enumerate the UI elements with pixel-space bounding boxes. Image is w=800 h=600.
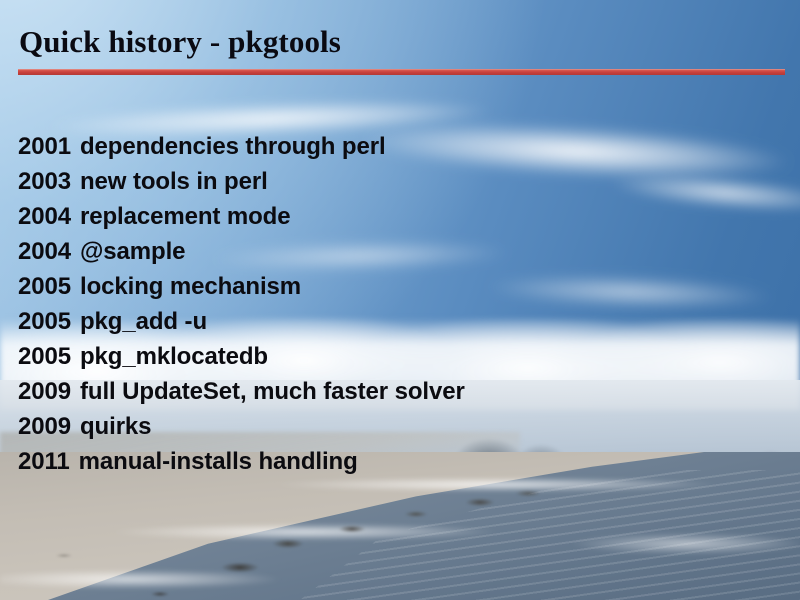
history-item-event: locking mechanism <box>80 273 301 300</box>
history-item-event: pkg_add -u <box>80 308 207 335</box>
history-item: 2001dependencies through perl <box>18 131 778 166</box>
history-item-year: 2003 <box>18 168 71 195</box>
history-item-event: pkg_mklocatedb <box>80 343 268 370</box>
slide-title: Quick history - pkgtools <box>19 24 341 60</box>
history-item-year: 2011 <box>18 448 70 475</box>
history-item-event: dependencies through perl <box>80 133 386 160</box>
history-item: 2003new tools in perl <box>18 166 778 201</box>
history-item-year: 2004 <box>18 238 71 265</box>
history-item-event: full UpdateSet, much faster solver <box>80 378 465 405</box>
history-item-year: 2004 <box>18 203 71 230</box>
history-item: 2011manual-installs handling <box>18 446 778 481</box>
history-item-year: 2009 <box>18 413 71 440</box>
history-item: 2009full UpdateSet, much faster solver <box>18 376 778 411</box>
history-item-year: 2009 <box>18 378 71 405</box>
history-item-event: manual-installs handling <box>79 448 358 475</box>
history-item: 2005pkg_add -u <box>18 306 778 341</box>
history-item-event: @sample <box>80 238 185 265</box>
history-item: 2009quirks <box>18 411 778 446</box>
history-item-year: 2001 <box>18 133 71 160</box>
history-item-year: 2005 <box>18 273 71 300</box>
title-underline-rule <box>18 69 785 75</box>
history-item-event: replacement mode <box>80 203 290 230</box>
history-item-event: new tools in perl <box>80 168 268 195</box>
slide-content: Quick history - pkgtools 2001dependencie… <box>0 0 800 600</box>
history-item-event: quirks <box>80 413 151 440</box>
history-item: 2005locking mechanism <box>18 271 778 306</box>
history-item: 2004replacement mode <box>18 201 778 236</box>
history-item-year: 2005 <box>18 343 71 370</box>
history-item-year: 2005 <box>18 308 71 335</box>
presentation-slide: Quick history - pkgtools 2001dependencie… <box>0 0 800 600</box>
history-item: 2004@sample <box>18 236 778 271</box>
history-item: 2005pkg_mklocatedb <box>18 341 778 376</box>
history-list: 2001dependencies through perl2003new too… <box>18 131 778 481</box>
